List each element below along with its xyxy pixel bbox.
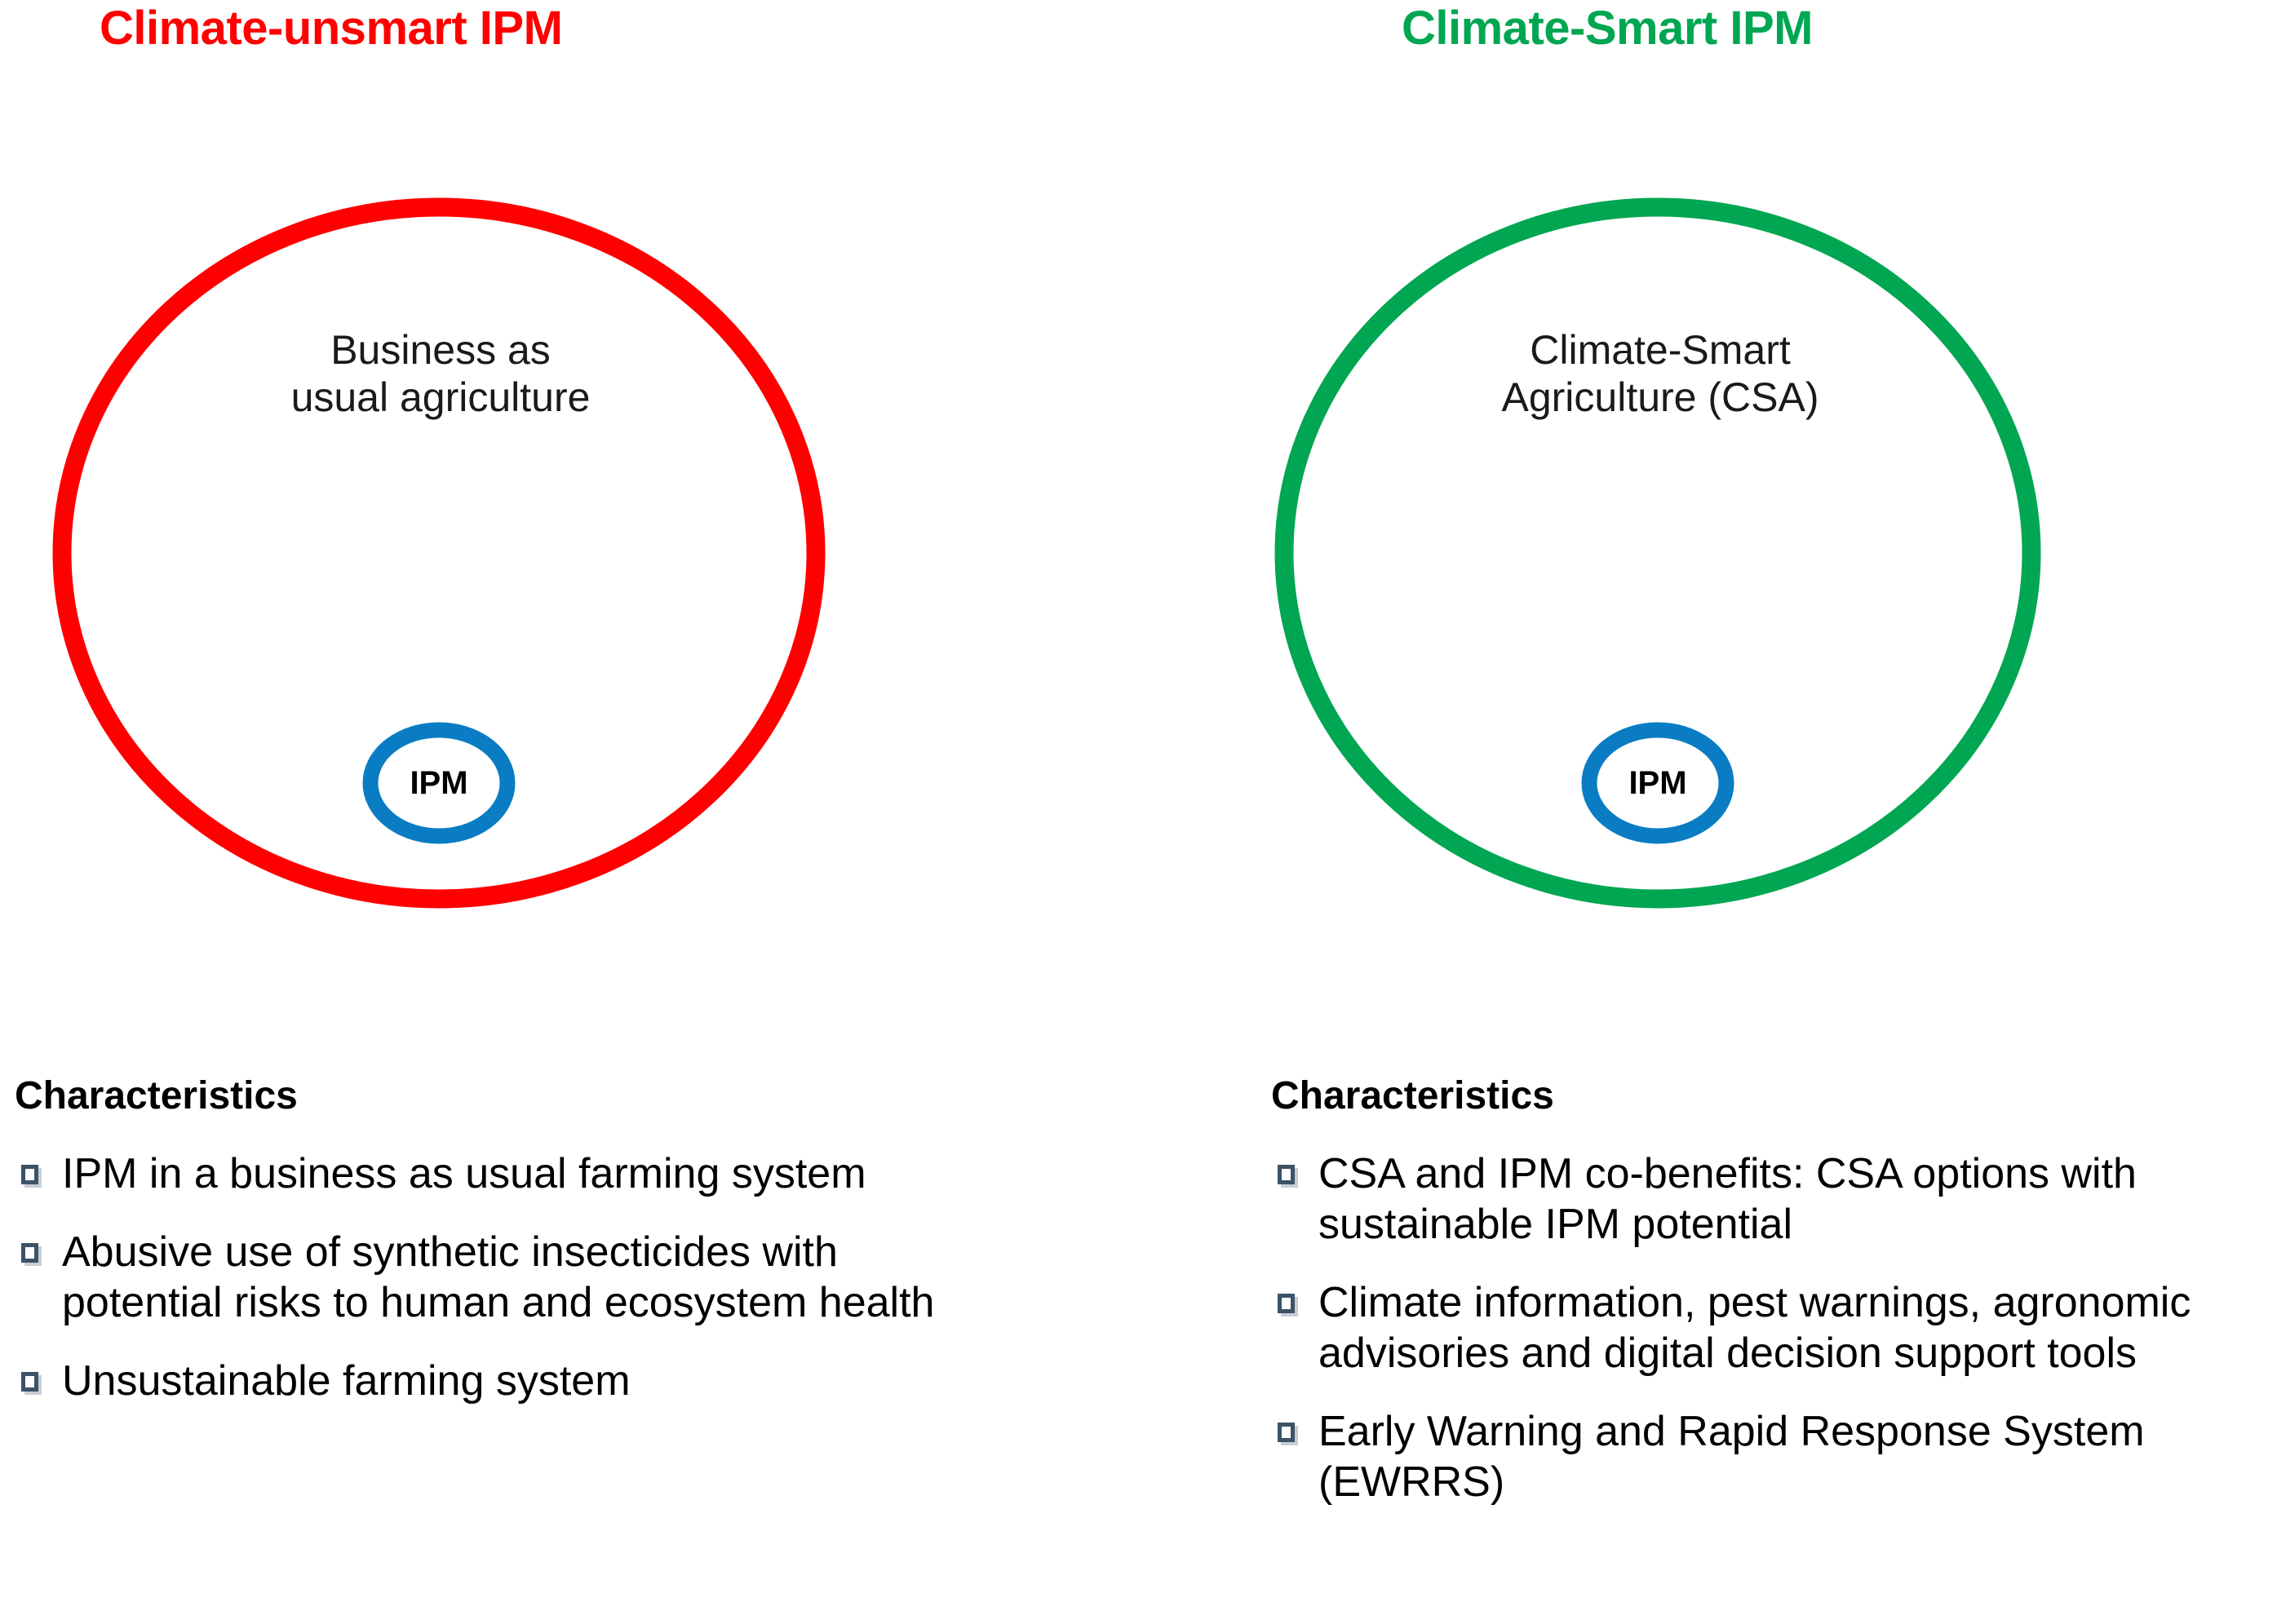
square-bullet-icon [1278,1294,1295,1313]
list-item-label: Early Warning and Rapid Response System … [1318,1408,2145,1506]
characteristics-list: CSA and IPM co-benefits: CSA options wit… [1271,1148,2275,1507]
slide-canvas: Climate-unsmart IPM Climate-Smart IPM Bu… [0,0,2277,1624]
venn-diagram-climate-unsmart: Business as usual agriculture IPM [33,188,848,922]
outer-circle-label: Business as usual agriculture [188,326,693,421]
list-item-label: IPM in a business as usual farming syste… [62,1150,866,1197]
outer-circle-label-line-1: Climate-Smart [1407,326,1913,374]
square-bullet-icon [21,1243,38,1263]
square-bullet-icon [1278,1423,1295,1442]
list-item-label: Climate information, pest warnings, agro… [1318,1279,2191,1377]
inner-ellipse-label: IPM [1560,767,1756,799]
list-item: Abusive use of synthetic insecticides wi… [15,1227,977,1328]
venn-diagram-right-svg [1256,188,2072,922]
square-bullet-icon [1278,1165,1295,1184]
characteristics-block-climate-smart: Characteristics CSA and IPM co-benefits:… [1271,1075,2275,1507]
outer-circle-label-line-2: Agriculture (CSA) [1407,374,1913,421]
list-item-label: Unsustainable farming system [62,1357,631,1405]
page-title-climate-smart: Climate-Smart IPM [1402,5,1813,52]
list-item: Unsustainable farming system [15,1356,977,1406]
square-bullet-icon [21,1165,38,1184]
characteristics-block-climate-unsmart: Characteristics IPM in a business as usu… [15,1075,977,1406]
list-item: Climate information, pest warnings, agro… [1271,1277,2275,1378]
list-item-label: CSA and IPM co-benefits: CSA options wit… [1318,1150,2137,1248]
square-bullet-icon [21,1372,38,1392]
list-item: IPM in a business as usual farming syste… [15,1148,977,1199]
characteristics-heading: Characteristics [1271,1075,2275,1117]
venn-diagram-climate-smart: Climate-Smart Agriculture (CSA) IPM [1256,188,2072,922]
outer-circle-label-line-2: usual agriculture [188,374,693,421]
list-item-label: Abusive use of synthetic insecticides wi… [62,1228,934,1326]
page-title-climate-unsmart: Climate-unsmart IPM [100,5,562,52]
list-item: Early Warning and Rapid Response System … [1271,1406,2275,1507]
characteristics-heading: Characteristics [15,1075,977,1117]
inner-ellipse-label: IPM [341,767,537,799]
venn-diagram-left-svg [33,188,848,922]
list-item: CSA and IPM co-benefits: CSA options wit… [1271,1148,2275,1250]
characteristics-list: IPM in a business as usual farming syste… [15,1148,977,1406]
outer-circle-label-line-1: Business as [188,326,693,374]
outer-circle-label: Climate-Smart Agriculture (CSA) [1407,326,1913,421]
